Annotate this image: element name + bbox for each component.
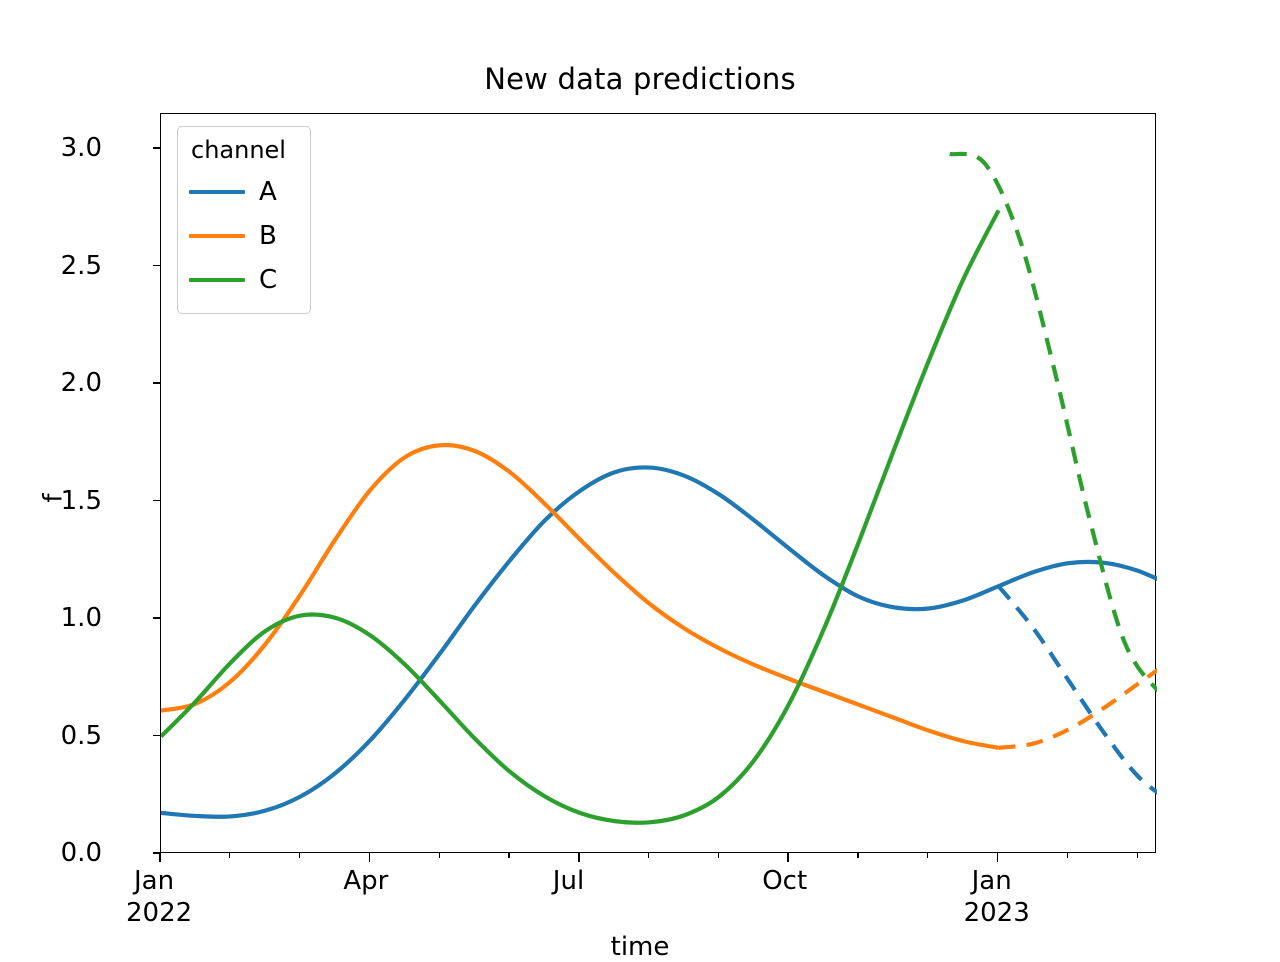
x-tick-label-year: 2023	[964, 898, 1030, 930]
x-tick-label-month: Apr	[343, 866, 388, 898]
x-tick-mark-major	[159, 853, 161, 862]
legend-entries: ABC	[189, 170, 299, 302]
series-line-C-forecast	[950, 154, 1157, 698]
legend: channel ABC	[177, 126, 311, 314]
x-tick-mark-major	[578, 853, 580, 862]
x-tick-label-month: Oct	[762, 866, 807, 898]
series-line-B-forecast	[999, 659, 1157, 748]
legend-swatch-A	[189, 190, 245, 194]
x-tick-mark-major	[787, 853, 789, 862]
legend-label-A: A	[259, 177, 277, 207]
legend-label-C: C	[259, 265, 277, 295]
x-tick-label: Oct	[762, 866, 807, 898]
x-tick-label-month: Jul	[553, 866, 584, 898]
y-tick-label: 0.0	[61, 838, 102, 868]
legend-label-B: B	[259, 221, 277, 251]
y-tick-label: 2.5	[61, 251, 102, 281]
x-tick-mark-major	[369, 853, 371, 862]
series-line-A-forecast	[999, 586, 1157, 803]
y-tick-label: 0.5	[61, 721, 102, 751]
x-tick-label: Apr	[343, 866, 388, 898]
y-tick-label: 1.5	[61, 486, 102, 516]
matplotlib-figure: New data predictions f 0.00.51.01.52.02.…	[0, 0, 1280, 960]
x-axis-label: time	[0, 932, 1280, 962]
y-tick-label: 1.0	[61, 603, 102, 633]
legend-item-A[interactable]: A	[189, 170, 299, 214]
y-tick-label: 3.0	[61, 133, 102, 163]
legend-item-C[interactable]: C	[189, 258, 299, 302]
legend-swatch-B	[189, 234, 245, 238]
x-tick-label-month: Jan	[972, 866, 1030, 898]
page-title: New data predictions	[0, 62, 1280, 96]
x-tick-label-year: 2022	[126, 898, 192, 930]
x-tick-label-month: Jan	[134, 866, 192, 898]
y-tick-label: 2.0	[61, 368, 102, 398]
x-tick-mark-major	[997, 853, 999, 862]
x-tick-label: Jul	[553, 866, 584, 898]
x-tick-label: Jan2022	[134, 866, 192, 930]
x-tick-label: Jan2023	[972, 866, 1030, 930]
legend-swatch-C	[189, 278, 245, 282]
series-line-A-observed	[161, 467, 1157, 816]
legend-item-B[interactable]: B	[189, 214, 299, 258]
legend-title: channel	[189, 136, 299, 164]
